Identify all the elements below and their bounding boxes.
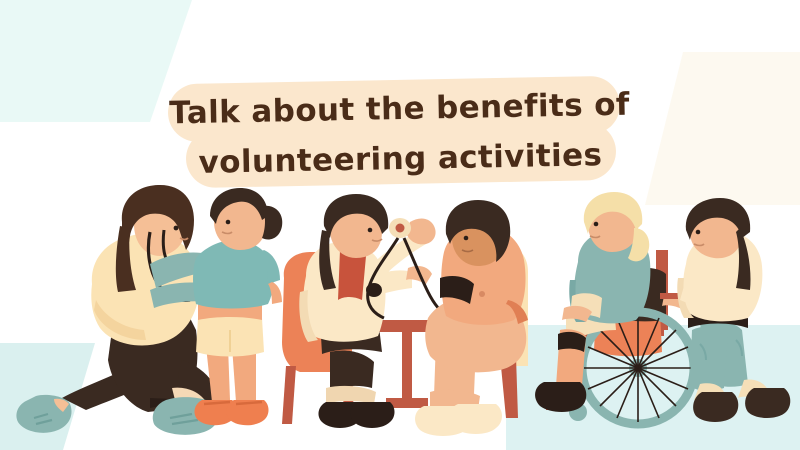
doctor-shoe-right: [351, 402, 395, 428]
child-shirt: [193, 240, 274, 309]
bp-gauge: [366, 283, 382, 297]
rider-eye: [594, 222, 599, 227]
scene-blood-pressure-check: [282, 194, 528, 436]
bp-bulb-valve: [396, 224, 405, 233]
child-eye: [226, 220, 231, 225]
patient-eye: [464, 236, 469, 241]
patient-navel: [479, 291, 485, 297]
nurse-eye: [174, 226, 179, 231]
child-ponytail: [262, 206, 282, 240]
poster-title: Talk about the benefits of volunteering …: [149, 77, 651, 191]
table-stem: [402, 330, 412, 400]
helper-leg-front: [690, 327, 728, 391]
patient-slipper-right: [449, 404, 502, 434]
helper-eye: [696, 230, 701, 235]
helper-shoe-back: [745, 388, 790, 418]
chair-left-leg-front: [282, 366, 296, 424]
scene-wheelchair-assistance: [535, 192, 790, 424]
illustration-layer: [0, 0, 800, 450]
helper-shoe-front: [693, 392, 738, 422]
rider-shoe: [535, 382, 586, 412]
poster-canvas: Talk about the benefits of volunteering …: [0, 0, 800, 450]
doctor-eye: [368, 228, 373, 233]
poster-title-line-1: Talk about the benefits of: [169, 80, 630, 139]
poster-title-line-2: volunteering activities: [198, 130, 603, 188]
doctor-legs: [330, 350, 374, 392]
scene-doctor-examining-child: [16, 185, 282, 435]
